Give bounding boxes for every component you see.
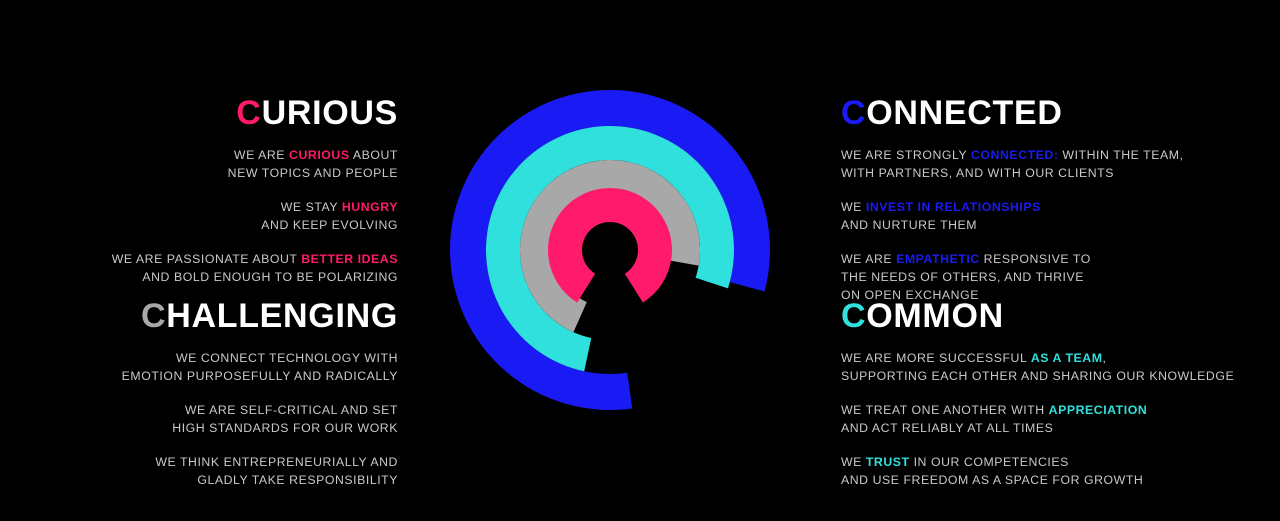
text-run: WE CONNECT TECHNOLOGY WITH [176,351,398,365]
text-run: WE STAY [281,200,342,214]
statement-line: THE NEEDS OF OTHERS, AND THRIVE [841,268,1271,286]
block-title-connected: CONNECTED [841,96,1271,132]
concentric-c-rings-icon [450,90,770,410]
title-initial-challenging: C [141,297,166,335]
highlight-term: CURIOUS [289,148,350,162]
statement-line: AND ACT RELIABLY AT ALL TIMES [841,419,1271,437]
text-run: AND ACT RELIABLY AT ALL TIMES [841,421,1053,435]
statement: WE ARE SELF-CRITICAL AND SETHIGH STANDAR… [0,401,398,437]
text-run: HIGH STANDARDS FOR OUR WORK [172,421,398,435]
statement: WE ARE EMPATHETIC RESPONSIVE TOTHE NEEDS… [841,250,1271,304]
statement-line: WE TRUST IN OUR COMPETENCIES [841,453,1271,471]
statement: WE THINK ENTREPRENEURIALLY ANDGLADLY TAK… [0,453,398,489]
statement-line: AND USE FREEDOM AS A SPACE FOR GROWTH [841,471,1271,489]
statement: WE ARE MORE SUCCESSFUL AS A TEAM,SUPPORT… [841,349,1271,385]
highlight-term: AS A TEAM [1031,351,1103,365]
statement-line: EMOTION PURPOSEFULLY AND RADICALLY [0,367,398,385]
statement: WE ARE PASSIONATE ABOUT BETTER IDEASAND … [0,250,398,286]
values-wheel-emblem [450,90,770,410]
statement-line: WE THINK ENTREPRENEURIALLY AND [0,453,398,471]
statement-line: WE STAY HUNGRY [0,198,398,216]
text-run: ABOUT [350,148,398,162]
value-block-curious: CURIOUS WE ARE CURIOUS ABOUTNEW TOPICS A… [0,96,398,286]
statement-line: AND KEEP EVOLVING [0,216,398,234]
statement-line: WE TREAT ONE ANOTHER WITH APPRECIATION [841,401,1271,419]
highlight-term: CONNECTED: [971,148,1058,162]
statement-line: NEW TOPICS AND PEOPLE [0,164,398,182]
statement-line: WE ARE PASSIONATE ABOUT BETTER IDEAS [0,250,398,268]
highlight-term: INVEST IN RELATIONSHIPS [866,200,1041,214]
text-run: WE ARE SELF-CRITICAL AND SET [185,403,398,417]
statement-line: AND NURTURE THEM [841,216,1271,234]
text-run: GLADLY TAKE RESPONSIBILITY [197,473,398,487]
ring-gray [520,160,700,332]
statement-line: WE ARE STRONGLY CONNECTED: WITHIN THE TE… [841,146,1271,164]
statement-line: WE CONNECT TECHNOLOGY WITH [0,349,398,367]
text-run: IN OUR COMPETENCIES [910,455,1069,469]
block-body-challenging: WE CONNECT TECHNOLOGY WITHEMOTION PURPOS… [0,349,398,489]
text-run: THE NEEDS OF OTHERS, AND THRIVE [841,270,1084,284]
canvas: CURIOUS WE ARE CURIOUS ABOUTNEW TOPICS A… [0,0,1280,521]
statement: WE INVEST IN RELATIONSHIPSAND NURTURE TH… [841,198,1271,234]
text-run: WE ARE [234,148,289,162]
statement-line: GLADLY TAKE RESPONSIBILITY [0,471,398,489]
title-initial-curious: C [236,94,261,132]
statement: WE ARE STRONGLY CONNECTED: WITHIN THE TE… [841,146,1271,182]
block-title-challenging: CHALLENGING [0,299,398,335]
text-run: SUPPORTING EACH OTHER AND SHARING OUR KN… [841,369,1234,383]
title-initial-common: C [841,297,866,335]
highlight-term: BETTER IDEAS [301,252,398,266]
block-title-common: COMMON [841,299,1271,335]
block-title-curious: CURIOUS [0,96,398,132]
text-run: NEW TOPICS AND PEOPLE [228,166,398,180]
statement: WE STAY HUNGRYAND KEEP EVOLVING [0,198,398,234]
text-run: AND USE FREEDOM AS A SPACE FOR GROWTH [841,473,1143,487]
statement-line: WITH PARTNERS, AND WITH OUR CLIENTS [841,164,1271,182]
text-run: , [1103,351,1107,365]
value-block-connected: CONNECTED WE ARE STRONGLY CONNECTED: WIT… [841,96,1271,304]
statement: WE CONNECT TECHNOLOGY WITHEMOTION PURPOS… [0,349,398,385]
text-run: RESPONSIVE TO [980,252,1091,266]
text-run: EMOTION PURPOSEFULLY AND RADICALLY [122,369,398,383]
title-rest-curious: URIOUS [262,94,398,132]
text-run: AND NURTURE THEM [841,218,977,232]
statement: WE TRUST IN OUR COMPETENCIESAND USE FREE… [841,453,1271,489]
value-block-common: COMMON WE ARE MORE SUCCESSFUL AS A TEAM,… [841,299,1271,489]
text-run: AND KEEP EVOLVING [261,218,398,232]
block-body-curious: WE ARE CURIOUS ABOUTNEW TOPICS AND PEOPL… [0,146,398,286]
highlight-term: HUNGRY [342,200,398,214]
title-initial-connected: C [841,94,866,132]
text-run: WE ARE PASSIONATE ABOUT [112,252,302,266]
statement-line: SUPPORTING EACH OTHER AND SHARING OUR KN… [841,367,1271,385]
text-run: WE [841,200,866,214]
text-run: AND BOLD ENOUGH TO BE POLARIZING [142,270,398,284]
value-block-challenging: CHALLENGING WE CONNECT TECHNOLOGY WITHEM… [0,299,398,489]
statement-line: WE INVEST IN RELATIONSHIPS [841,198,1271,216]
statement-line: HIGH STANDARDS FOR OUR WORK [0,419,398,437]
title-rest-connected: ONNECTED [866,94,1062,132]
title-rest-common: OMMON [866,297,1004,335]
text-run: WE TREAT ONE ANOTHER WITH [841,403,1049,417]
block-body-connected: WE ARE STRONGLY CONNECTED: WITHIN THE TE… [841,146,1271,304]
statement-line: WE ARE EMPATHETIC RESPONSIVE TO [841,250,1271,268]
statement-line: WE ARE MORE SUCCESSFUL AS A TEAM, [841,349,1271,367]
text-run: WE [841,455,866,469]
text-run: WE ARE [841,252,896,266]
statement: WE TREAT ONE ANOTHER WITH APPRECIATIONAN… [841,401,1271,437]
statement-line: AND BOLD ENOUGH TO BE POLARIZING [0,268,398,286]
highlight-term: APPRECIATION [1049,403,1148,417]
statement-line: WE ARE CURIOUS ABOUT [0,146,398,164]
statement-line: WE ARE SELF-CRITICAL AND SET [0,401,398,419]
title-rest-challenging: HALLENGING [166,297,398,335]
text-run: WITH PARTNERS, AND WITH OUR CLIENTS [841,166,1114,180]
text-run: WE ARE MORE SUCCESSFUL [841,351,1031,365]
highlight-term: EMPATHETIC [896,252,980,266]
text-run: WE THINK ENTREPRENEURIALLY AND [155,455,398,469]
statement: WE ARE CURIOUS ABOUTNEW TOPICS AND PEOPL… [0,146,398,182]
block-body-common: WE ARE MORE SUCCESSFUL AS A TEAM,SUPPORT… [841,349,1271,489]
text-run: WITHIN THE TEAM, [1058,148,1183,162]
highlight-term: TRUST [866,455,910,469]
text-run: WE ARE STRONGLY [841,148,971,162]
